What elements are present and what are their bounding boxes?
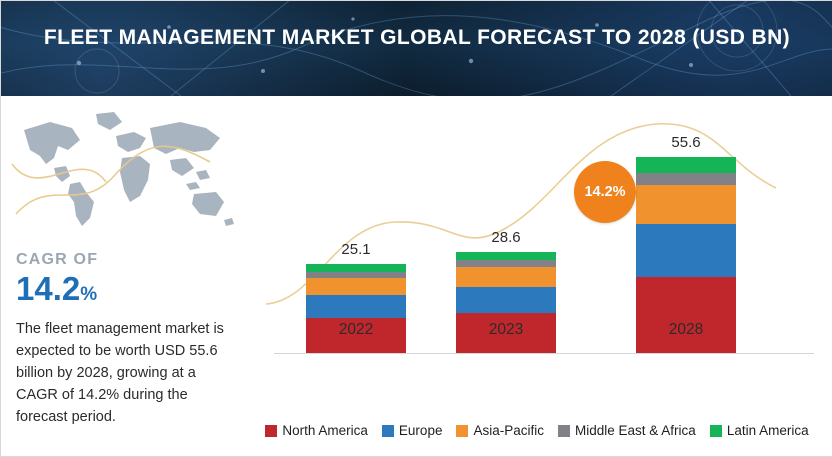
category-axis-label: 2028 [606, 321, 766, 339]
bar-stack-2028[interactable]: 55.62028 [636, 157, 736, 353]
legend-label: Latin America [727, 423, 809, 438]
category-axis-label: 2022 [276, 321, 436, 339]
legend-item[interactable]: North America [265, 423, 368, 438]
legend-swatch [710, 425, 722, 437]
legend-label: Asia-Pacific [473, 423, 544, 438]
bar-segment [456, 287, 556, 314]
bar-segment [636, 157, 736, 173]
bar-segment [636, 224, 736, 277]
bar-segment [456, 267, 556, 287]
cagr-unit: % [80, 284, 97, 305]
cagr-callout-badge: 14.2% [574, 161, 636, 223]
bar-stack-2022[interactable]: 25.12022 [306, 264, 406, 353]
page-title: FLEET MANAGEMENT MARKET GLOBAL FORECAST … [31, 23, 803, 53]
infographic-page: FLEET MANAGEMENT MARKET GLOBAL FORECAST … [0, 0, 832, 457]
legend-item[interactable]: Asia-Pacific [456, 423, 544, 438]
cagr-number: 14.2 [16, 270, 80, 307]
panel-description: The fleet management market is expected … [16, 318, 230, 428]
bar-segment [456, 252, 556, 260]
bar-segment [636, 173, 736, 185]
legend-item[interactable]: Europe [382, 423, 443, 438]
legend-swatch [456, 425, 468, 437]
bar-segment [636, 185, 736, 224]
world-map-icon [10, 106, 238, 234]
bar-stack-2023[interactable]: 28.62023 [456, 252, 556, 353]
legend-label: Middle East & Africa [575, 423, 696, 438]
category-axis-label: 2023 [426, 321, 586, 339]
legend-swatch [265, 425, 277, 437]
bar-total-label: 25.1 [296, 241, 416, 258]
chart-container: 25.12022 28.62023 55.62028 14.2% North A… [242, 96, 832, 456]
legend-label: North America [282, 423, 368, 438]
bar-segment [306, 278, 406, 295]
left-info-panel: CAGR OF 14.2% The fleet management marke… [2, 96, 243, 456]
bar-total-label: 55.6 [626, 134, 746, 151]
category-axis-line [274, 353, 814, 354]
plot-area: 25.12022 28.62023 55.62028 14.2% [256, 104, 818, 399]
cagr-value: 14.2% [16, 272, 97, 312]
legend-swatch [558, 425, 570, 437]
legend-label: Europe [399, 423, 443, 438]
bar-segment [306, 295, 406, 318]
bar-segment [306, 264, 406, 272]
bar-segment [636, 277, 736, 353]
legend-item[interactable]: Middle East & Africa [558, 423, 696, 438]
chart-legend: North AmericaEuropeAsia-PacificMiddle Ea… [242, 423, 832, 438]
legend-item[interactable]: Latin America [710, 423, 809, 438]
bar-total-label: 28.6 [446, 229, 566, 246]
header-banner: FLEET MANAGEMENT MARKET GLOBAL FORECAST … [1, 1, 832, 96]
cagr-label: CAGR OF [16, 251, 98, 269]
legend-swatch [382, 425, 394, 437]
